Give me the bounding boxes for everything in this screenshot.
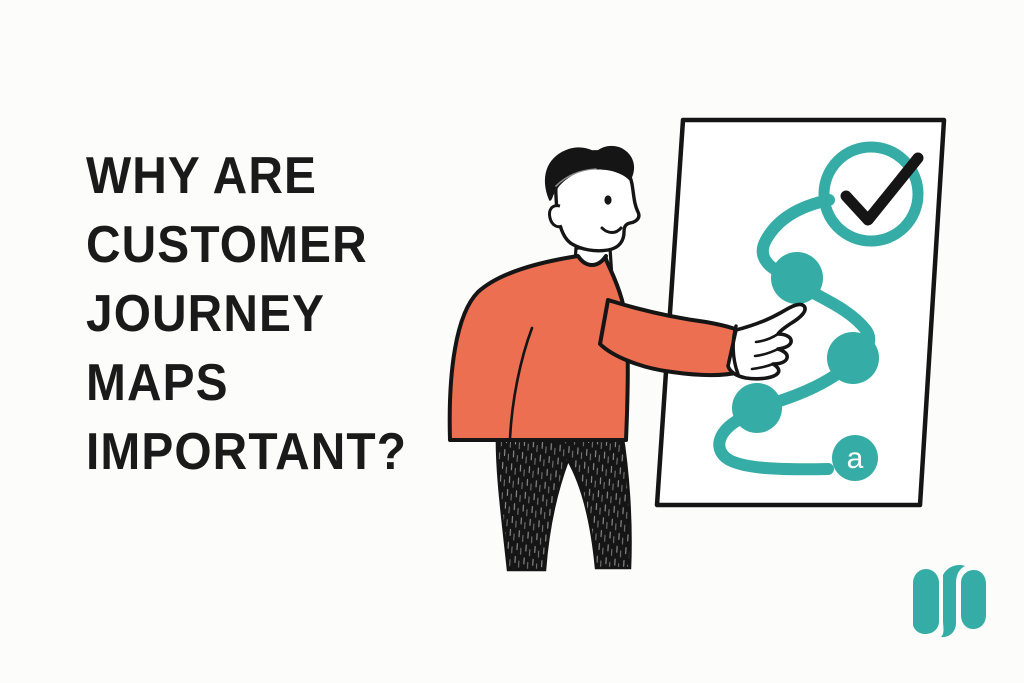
page-title: WHY ARE CUSTOMER JOURNEY MAPS IMPORTANT? <box>86 142 506 487</box>
headline-line-2: CUSTOMER <box>86 211 472 280</box>
logo-stroke-right <box>961 570 986 629</box>
start-marker-glyph: a <box>847 442 864 475</box>
journey-node-3 <box>732 383 782 433</box>
brand-logo-mark <box>893 553 993 645</box>
eye <box>604 195 611 204</box>
headline-line-4: MAPS <box>86 349 472 418</box>
logo-stroke-left <box>913 569 939 634</box>
ear <box>549 206 562 227</box>
banner-canvas: WHY ARE CUSTOMER JOURNEY MAPS IMPORTANT? <box>0 0 1024 683</box>
journey-node-1 <box>771 252 823 304</box>
headline-line-1: WHY ARE <box>86 142 472 211</box>
headline-line-3: JOURNEY <box>86 280 472 349</box>
journey-node-2 <box>827 332 879 384</box>
trousers <box>497 432 631 570</box>
brand-logo[interactable] <box>893 553 993 645</box>
headline-line-5: IMPORTANT? <box>86 418 472 487</box>
